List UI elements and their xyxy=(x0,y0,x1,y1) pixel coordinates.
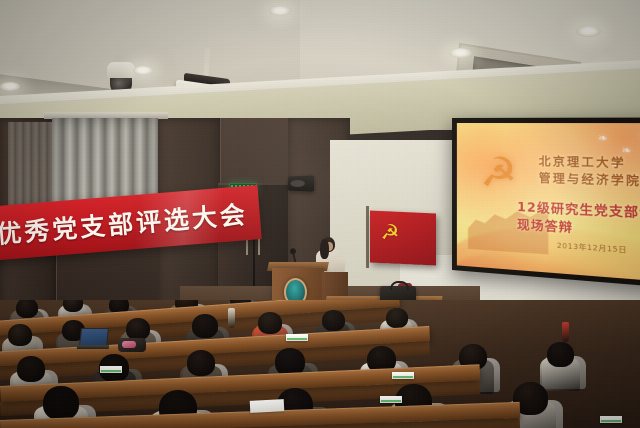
water-bottle xyxy=(228,308,235,328)
wall-speaker xyxy=(288,175,314,191)
hammer-and-sickle-icon: ☭ xyxy=(475,149,522,197)
dove-icon: ❧ xyxy=(598,132,608,144)
hammer-and-sickle-icon: ☭ xyxy=(378,220,402,247)
audience-member-head xyxy=(386,308,408,328)
name-placard xyxy=(100,366,122,373)
recessed-downlight xyxy=(0,82,20,91)
audience-member-head xyxy=(16,300,38,318)
audience-member-head xyxy=(8,324,32,346)
paper-handout xyxy=(250,399,285,413)
cpc-flag: ☭ xyxy=(370,211,436,266)
audience-member-head xyxy=(547,342,574,367)
audience-member-head xyxy=(187,350,215,376)
name-placard xyxy=(600,416,622,423)
handbag xyxy=(118,338,146,352)
name-placard xyxy=(380,396,402,403)
recessed-downlight xyxy=(269,6,291,16)
recessed-downlight xyxy=(449,48,472,58)
screen-title-line2: 现场答辩 xyxy=(517,216,573,237)
seated-audience xyxy=(0,300,640,428)
flag-pole xyxy=(366,206,369,268)
recessed-downlight xyxy=(576,26,601,37)
audience-member-head xyxy=(17,356,45,382)
screen-org-line2: 管理与经济学院 xyxy=(539,169,640,189)
water-bottle xyxy=(562,322,569,342)
projection-screen: ❧ ❧ ❧ ❧ ❧ ☭ 北京理工大学 管理与经济学院 12级研究生党支部评优 现… xyxy=(457,123,640,281)
audience-member-head xyxy=(258,312,282,334)
recessed-downlight xyxy=(133,66,153,75)
audience-member-head xyxy=(192,314,218,338)
audience-member-head xyxy=(126,318,150,340)
name-placard xyxy=(392,372,414,379)
audience-member-head xyxy=(43,386,79,420)
presenter-hair xyxy=(320,239,329,259)
laptop[interactable] xyxy=(79,328,109,346)
audience-member-head xyxy=(63,300,83,312)
audience-member-head xyxy=(322,310,345,331)
auditorium-photo: ☭ ❧ ❧ ❧ ❧ ❧ ☭ 北京理工大学 管理与经济学院 12级研究生党支部评优… xyxy=(0,0,640,428)
projection-screen-frame: ❧ ❧ ❧ ❧ ❧ ☭ 北京理工大学 管理与经济学院 12级研究生党支部评优 现… xyxy=(452,117,640,287)
name-placard xyxy=(286,334,308,341)
